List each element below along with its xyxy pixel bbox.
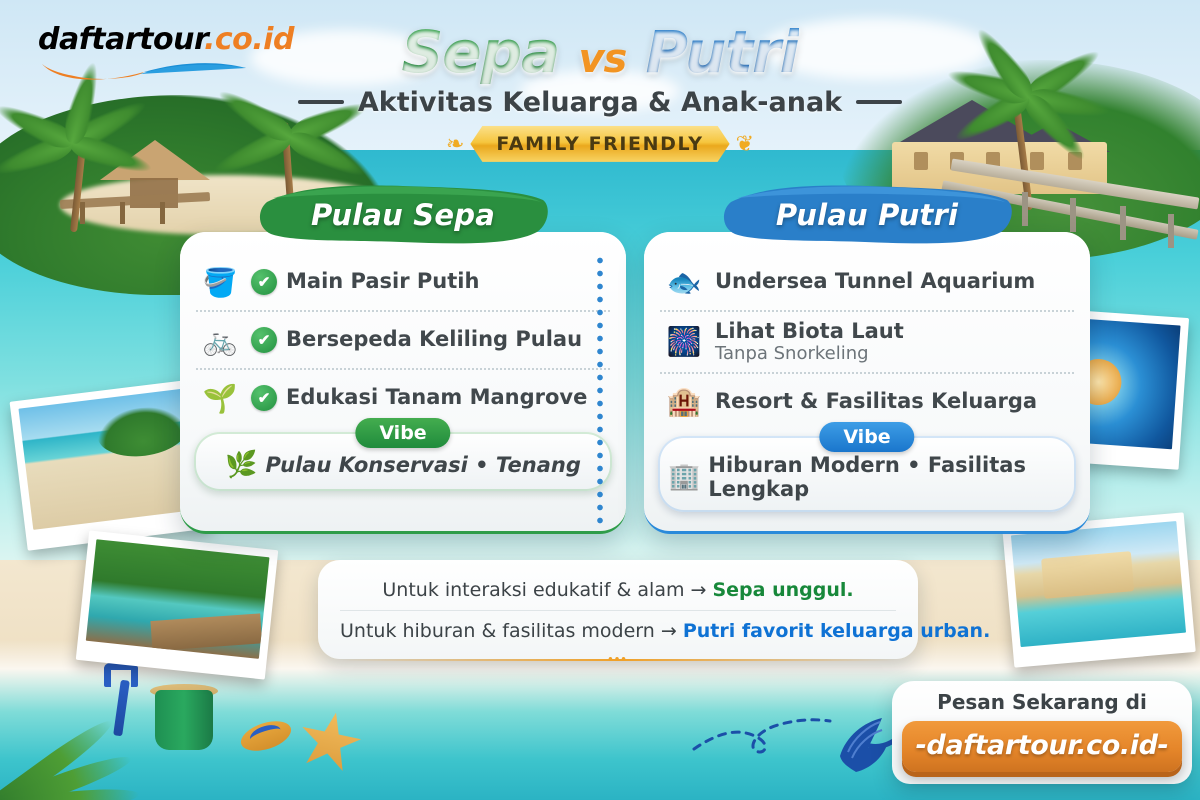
putri-activity-list: 🐟 Undersea Tunnel Aquarium 🎆 Lihat Biota… bbox=[644, 232, 1090, 430]
cta-label: Pesan Sekarang di bbox=[902, 690, 1182, 714]
list-item-label: Undersea Tunnel Aquarium bbox=[715, 270, 1035, 293]
fish-icon: 🐟 bbox=[662, 262, 706, 302]
infographic-canvas: daftartour.co.id Sepa vs Putri Aktivitas… bbox=[0, 0, 1200, 800]
city-buildings-icon: 🏢 bbox=[668, 461, 700, 492]
bicycle-icon: 🚲 bbox=[198, 320, 242, 360]
aquarium-icon: 🎆 bbox=[662, 322, 706, 362]
jetty-post bbox=[1022, 192, 1028, 226]
check-icon: ✔ bbox=[251, 269, 277, 295]
check-icon: ✔ bbox=[251, 327, 277, 353]
list-item-label: Lihat Biota Laut Tanpa Snorkeling bbox=[715, 320, 904, 364]
dashed-trail bbox=[690, 705, 850, 765]
cloud-shape bbox=[520, 70, 680, 112]
card-title-sepa: Pulau Sepa bbox=[311, 198, 495, 232]
logo-main-text: daftartour bbox=[38, 22, 204, 57]
list-item-subtitle: Tanpa Snorkeling bbox=[715, 344, 904, 364]
list-item[interactable]: 🎆 Lihat Biota Laut Tanpa Snorkeling bbox=[660, 312, 1074, 374]
conclusion-line-2-prefix: Untuk hiburan & fasilitas modern → bbox=[340, 620, 683, 642]
sand-bucket-icon: 🪣 bbox=[198, 262, 242, 302]
conclusion-line-2: Untuk hiburan & fasilitas modern → Putri… bbox=[340, 610, 896, 651]
list-item[interactable]: 🚲 ✔ Bersepeda Keliling Pulau bbox=[196, 312, 610, 370]
photo-resort-pool bbox=[1002, 512, 1196, 667]
check-icon: ✔ bbox=[251, 385, 277, 411]
vibe-text: Pulau Konservasi • Tenang bbox=[265, 453, 580, 477]
conclusion-line-1-emphasis: Sepa unggul. bbox=[712, 579, 853, 601]
sepa-vibe-block: Vibe 🌿 Pulau Konservasi • Tenang bbox=[194, 432, 612, 491]
conclusion-dots: ••• bbox=[608, 651, 628, 666]
jetty-post bbox=[1070, 198, 1076, 232]
leaf-icon: 🌿 bbox=[225, 449, 257, 480]
vibe-text: Hiburan Modern • Fasilitas Lengkap bbox=[708, 453, 1066, 501]
comparison-cards: Pulau Sepa 🪣 ✔ Main Pasir Putih 🚲 ✔ Bers… bbox=[180, 232, 1090, 534]
logo-tld-text: .co.id bbox=[204, 22, 294, 57]
list-item-label: Bersepeda Keliling Pulau bbox=[286, 328, 582, 351]
conclusion-box: Untuk interaksi edukatif & alam → Sepa u… bbox=[318, 560, 918, 659]
vibe-badge: Vibe bbox=[355, 418, 450, 448]
card-divider bbox=[597, 254, 603, 524]
list-item[interactable]: 🐟 Undersea Tunnel Aquarium bbox=[660, 254, 1074, 312]
brand-logo[interactable]: daftartour.co.id bbox=[38, 22, 268, 78]
putri-vibe-block: Vibe 🏢 Hiburan Modern • Fasilitas Lengka… bbox=[658, 436, 1076, 512]
jetty-post bbox=[1168, 214, 1174, 248]
cta-button[interactable]: -daftartour.co.id- bbox=[902, 721, 1182, 772]
photo-mangrove-boardwalk bbox=[76, 530, 279, 679]
conclusion-line-1-prefix: Untuk interaksi edukatif & alam → bbox=[382, 579, 712, 601]
list-item-title: Lihat Biota Laut bbox=[715, 319, 904, 343]
card-header-putri: Pulau Putri bbox=[717, 184, 1017, 246]
palm-tree-icon bbox=[18, 90, 168, 230]
card-pulau-sepa[interactable]: Pulau Sepa 🪣 ✔ Main Pasir Putih 🚲 ✔ Bers… bbox=[180, 232, 626, 534]
list-item[interactable]: 🪣 ✔ Main Pasir Putih bbox=[196, 254, 610, 312]
conclusion-line-2-emphasis: Putri favorit keluarga urban. bbox=[683, 620, 990, 642]
sepa-activity-list: 🪣 ✔ Main Pasir Putih 🚲 ✔ Bersepeda Kelil… bbox=[180, 232, 626, 426]
logo-swoosh-icon bbox=[40, 58, 260, 84]
resort-building-icon: 🏨 bbox=[662, 382, 706, 422]
seedling-icon: 🌱 bbox=[198, 378, 242, 418]
conclusion-line-1: Untuk interaksi edukatif & alam → Sepa u… bbox=[340, 570, 896, 610]
sand-bucket-icon bbox=[155, 690, 213, 750]
list-item-label: Resort & Fasilitas Keluarga bbox=[715, 390, 1037, 413]
card-title-putri: Pulau Putri bbox=[776, 198, 958, 232]
cta-panel: Pesan Sekarang di -daftartour.co.id- bbox=[892, 681, 1192, 784]
vibe-badge: Vibe bbox=[819, 422, 914, 452]
list-item-label: Edukasi Tanam Mangrove bbox=[286, 386, 587, 409]
jetty-post bbox=[1120, 206, 1126, 240]
list-item-label: Main Pasir Putih bbox=[286, 270, 479, 293]
card-header-sepa: Pulau Sepa bbox=[253, 184, 553, 246]
card-pulau-putri[interactable]: Pulau Putri 🐟 Undersea Tunnel Aquarium 🎆… bbox=[644, 232, 1090, 534]
